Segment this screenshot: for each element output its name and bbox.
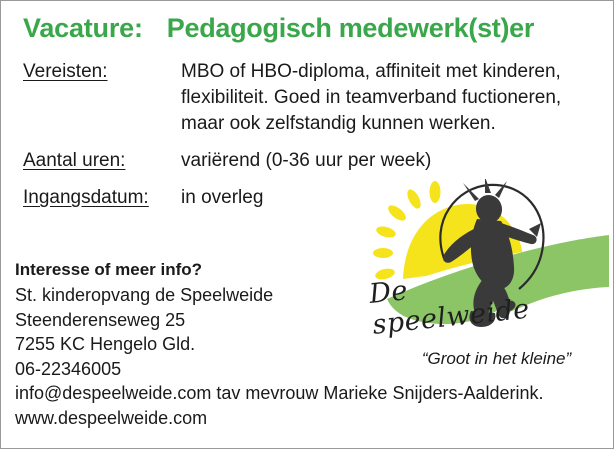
contact-email[interactable]: info@despeelweide.com tav mevrouw Mariek… xyxy=(15,381,544,406)
field-row-vereisten: Vereisten: MBO of HBO-diploma, affinitei… xyxy=(23,59,603,137)
field-row-aantal-uren: Aantal uren: variërend (0-36 uur per wee… xyxy=(23,148,603,174)
field-value-line: MBO of HBO-diploma, affiniteit met kinde… xyxy=(181,59,561,85)
logo-tagline: “Groot in het kleine” xyxy=(389,349,604,369)
field-label-vereisten: Vereisten: xyxy=(23,59,181,85)
header: Vacature: Pedagogisch medewerk(st)er xyxy=(23,13,603,44)
field-value-line: in overleg xyxy=(181,185,263,211)
field-value-vereisten: MBO of HBO-diploma, affiniteit met kinde… xyxy=(181,59,561,137)
field-value-line: variërend (0-36 uur per week) xyxy=(181,148,431,174)
field-value-aantal-uren: variërend (0-36 uur per week) xyxy=(181,148,431,174)
vacancy-advertisement: Vacature: Pedagogisch medewerk(st)er Ver… xyxy=(0,0,614,449)
field-value-line: flexibiliteit. Goed in teamverband fucti… xyxy=(181,85,561,111)
field-label-aantal-uren: Aantal uren: xyxy=(23,148,181,174)
field-value-ingangsdatum: in overleg xyxy=(181,185,263,211)
logo: De speelweide “Groot in het kleine” xyxy=(371,179,609,379)
page-title: Pedagogisch medewerk(st)er xyxy=(167,13,534,44)
field-label-ingangsdatum: Ingangsdatum: xyxy=(23,185,181,211)
vacancy-label: Vacature: xyxy=(23,13,143,44)
contact-website[interactable]: www.despeelweide.com xyxy=(15,406,544,431)
field-value-line: maar ook zelfstandig kunnen werken. xyxy=(181,111,561,137)
